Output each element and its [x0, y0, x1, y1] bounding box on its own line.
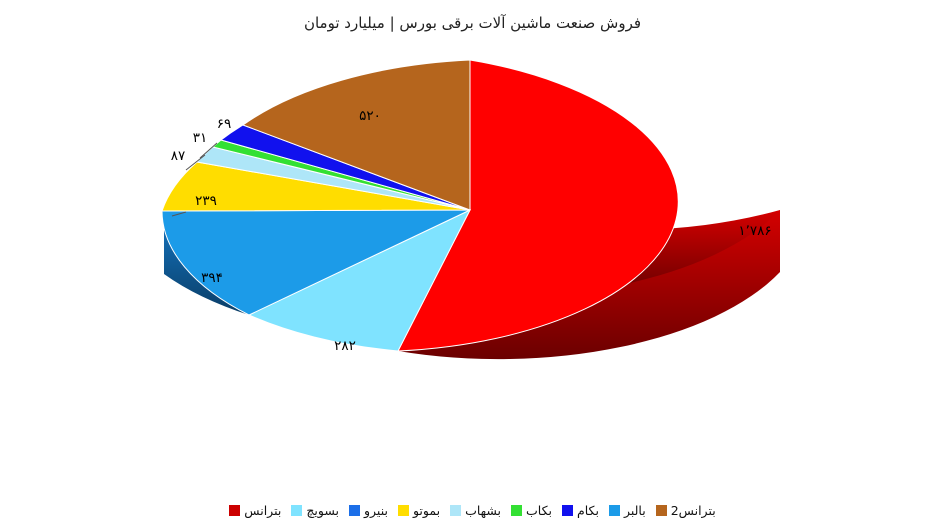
- legend-swatch: [511, 505, 522, 516]
- legend-label: بنیرو: [364, 503, 388, 518]
- pie-chart: ۱٬۷۸۶ ۲۸۲ ۳۹۴ ۲۳۹ ۸۷ ۳۱ ۶۹ ۵۲۰: [0, 60, 945, 470]
- legend-label: بکاب: [526, 503, 552, 518]
- legend-item: بالبر: [609, 503, 646, 518]
- pie-svg: ۱٬۷۸۶ ۲۸۲ ۳۹۴ ۲۳۹ ۸۷ ۳۱ ۶۹ ۵۲۰: [0, 60, 945, 470]
- legend-item: بترانس: [229, 503, 281, 518]
- legend-swatch: [398, 505, 409, 516]
- legend-swatch: [656, 505, 667, 516]
- legend-item: بکاب: [511, 503, 552, 518]
- legend-swatch: [291, 505, 302, 516]
- legend-label: بترانس2: [671, 503, 716, 518]
- legend-swatch: [349, 505, 360, 516]
- slice-label-bekam: ۶۹: [217, 116, 232, 132]
- legend-item: بسویچ: [291, 503, 339, 518]
- legend-label: بالبر: [624, 503, 646, 518]
- legend-label: بموتو: [413, 503, 440, 518]
- legend-item: بموتو: [398, 503, 440, 518]
- legend-swatch: [229, 505, 240, 516]
- legend-label: بترانس: [244, 503, 281, 518]
- legend-swatch: [450, 505, 461, 516]
- legend-label: بکام: [577, 503, 599, 518]
- slice-label-bekab: ۳۱: [193, 130, 208, 146]
- chart-title: فروش صنعت ماشین آلات برقی بورس | میلیارد…: [0, 14, 945, 32]
- legend-item: بشهاب: [450, 503, 501, 518]
- slice-label-bemoto: ۲۳۹: [195, 193, 217, 209]
- slice-label-betrans: ۱٬۷۸۶: [738, 223, 771, 239]
- legend-swatch: [562, 505, 573, 516]
- legend-item: بنیرو: [349, 503, 388, 518]
- slice-label-balbor: ۵۲۰: [359, 108, 381, 124]
- slice-label-besvich: ۲۸۲: [334, 338, 356, 354]
- legend-item: بکام: [562, 503, 599, 518]
- legend-label: بسویچ: [306, 503, 339, 518]
- legend-item: بترانس2: [656, 503, 716, 518]
- chart-legend: بترانس بسویچ بنیرو بموتو بشهاب بکاب بکام…: [0, 503, 945, 518]
- legend-swatch: [609, 505, 620, 516]
- slice-label-beniro: ۳۹۴: [201, 270, 223, 286]
- legend-label: بشهاب: [465, 503, 501, 518]
- slice-label-beshahab: ۸۷: [171, 148, 186, 164]
